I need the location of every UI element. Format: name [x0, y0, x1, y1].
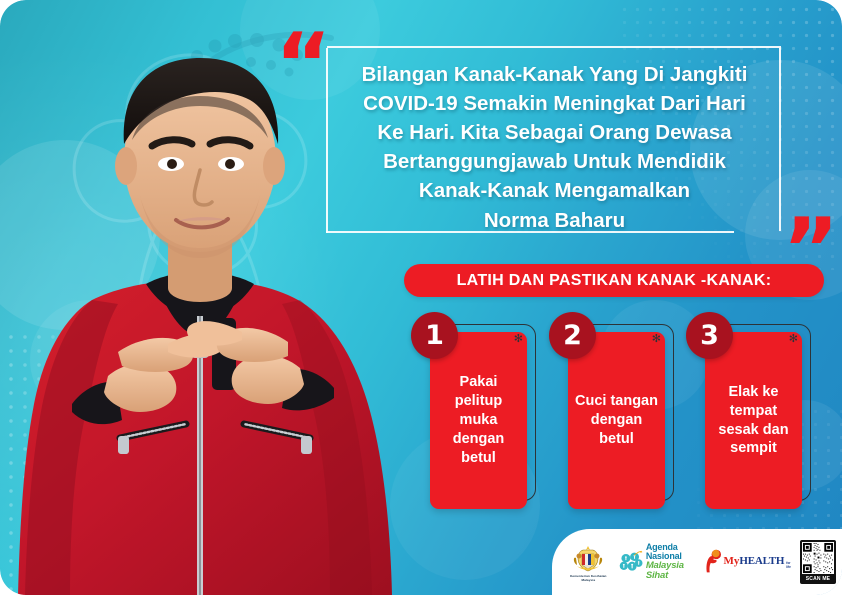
- myhealth-figure-icon: [704, 547, 723, 577]
- section-banner: LATIH DAN PASTIKAN KANAK -KANAK:: [404, 264, 824, 297]
- myhealth-prefix: My: [724, 555, 740, 567]
- quote-line: Bertanggungjawab Untuk Mendidik: [334, 147, 775, 176]
- quote-line: Ke Hari. Kita Sebagai Orang Dewasa: [334, 118, 775, 147]
- step-number-badge: 2: [549, 312, 596, 359]
- hibiscus-icon: [619, 546, 643, 578]
- sparkle-icon: ✻: [789, 334, 798, 345]
- step-number-badge: 1: [411, 312, 458, 359]
- step-text: Cuci tangan dengan betul: [575, 392, 658, 449]
- sparkle-icon: ✻: [652, 334, 661, 345]
- coat-of-arms-icon: [571, 543, 605, 573]
- agenda-line2: Malaysia Sihat: [646, 561, 696, 580]
- card-face: Elak ke tempat sesak dan sempit: [705, 332, 802, 509]
- agenda-wordmark: Agenda Nasional Malaysia Sihat: [646, 543, 696, 581]
- quote-open-icon: “: [275, 22, 330, 108]
- step-number-badge: 3: [686, 312, 733, 359]
- qr-code-icon: [802, 542, 834, 574]
- moh-logo: Kementerian Kesihatan Malaysia: [566, 543, 611, 582]
- card-face: Cuci tangan dengan betul: [568, 332, 665, 509]
- agenda-nasional-logo: Agenda Nasional Malaysia Sihat: [619, 543, 696, 581]
- quote-line: Bilangan Kanak-Kanak Yang Di Jangkiti: [334, 60, 775, 89]
- myhealth-word: HEALTH: [739, 555, 784, 567]
- myhealth-wordmark: My HEALTH for life: [724, 555, 792, 569]
- quote-line: Kanak-Kanak Mengamalkan: [334, 176, 775, 205]
- poster-canvas: “ ” Bilangan Kanak-Kanak Yang Di Jangkit…: [0, 0, 842, 595]
- quote-line: COVID-19 Semakin Meningkat Dari Hari: [334, 89, 775, 118]
- step-text: Pakai pelitup muka dengan betul: [437, 373, 520, 467]
- myhealth-tagline: for life: [786, 561, 792, 569]
- footer-logo-bar: Kementerian Kesihatan Malaysia: [552, 529, 842, 595]
- myhealth-logo: My HEALTH for life: [704, 547, 792, 577]
- sparkle-icon: ✻: [514, 334, 523, 345]
- step-card[interactable]: ✻ Cuci tangan dengan betul 2: [568, 332, 665, 509]
- step-text: Elak ke tempat sesak dan sempit: [712, 383, 795, 458]
- agenda-line1: Agenda Nasional: [646, 543, 696, 561]
- card-face: Pakai pelitup muka dengan betul: [430, 332, 527, 509]
- step-card[interactable]: ✻ Pakai pelitup muka dengan betul 1: [430, 332, 527, 509]
- step-card[interactable]: ✻ Elak ke tempat sesak dan sempit 3: [705, 332, 802, 509]
- quote-text: Bilangan Kanak-Kanak Yang Di Jangkiti CO…: [334, 60, 775, 235]
- steps-list: ✻ Pakai pelitup muka dengan betul 1 ✻ Cu…: [430, 315, 830, 515]
- moh-caption: Kementerian Kesihatan Malaysia: [566, 574, 611, 582]
- quote-block: “ ” Bilangan Kanak-Kanak Yang Di Jangkit…: [272, 30, 837, 245]
- qr-scan-label: SCAN ME: [806, 574, 830, 584]
- qr-code-block[interactable]: SCAN ME: [800, 540, 836, 584]
- quote-line: Norma Baharu: [334, 206, 775, 235]
